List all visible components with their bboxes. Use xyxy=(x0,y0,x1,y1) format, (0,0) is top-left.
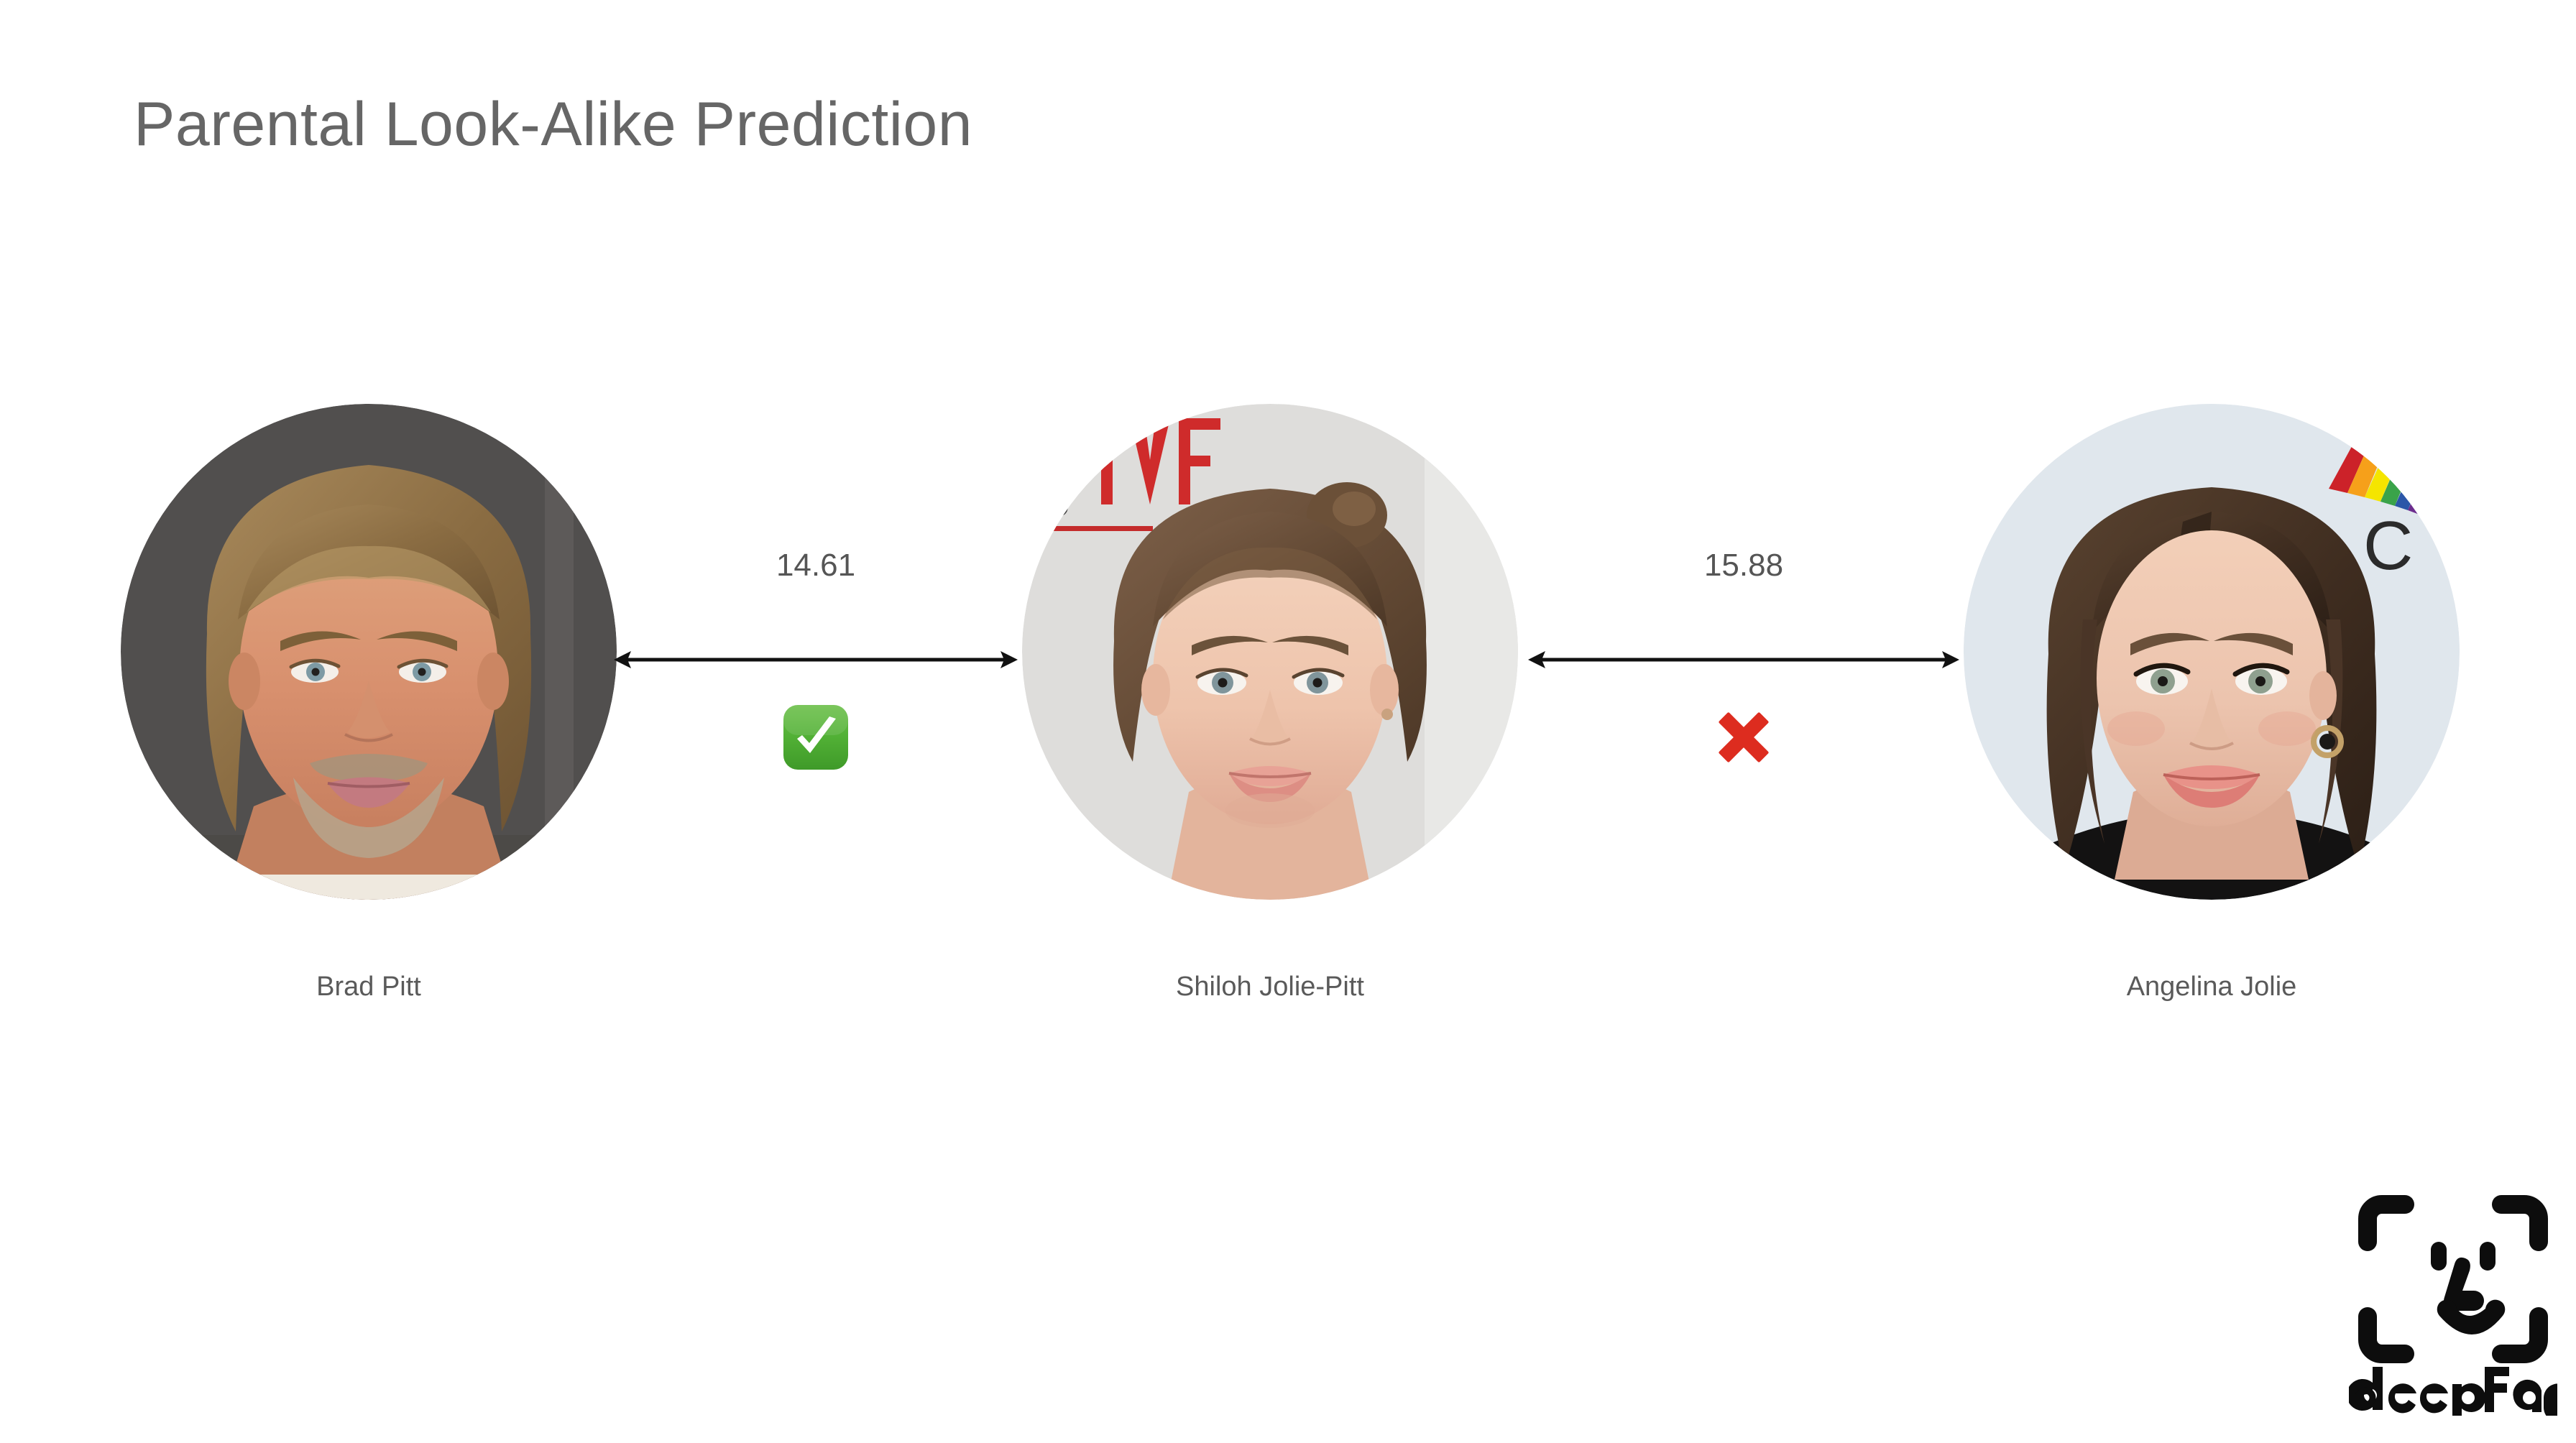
face-node-child-center: U xyxy=(1022,404,1518,900)
avatar-brad-pitt xyxy=(121,404,617,900)
page-title: Parental Look-Alike Prediction xyxy=(134,89,972,160)
distance-value: 14.61 xyxy=(776,548,855,584)
face-node-parent-right: C xyxy=(1964,404,2460,900)
avatar-angelina-jolie: C xyxy=(1964,404,2460,900)
svg-text:C: C xyxy=(2363,507,2413,584)
cross-mark-icon xyxy=(1709,703,1778,772)
comparison-shiloh-angelina: 15.88 xyxy=(1527,503,1961,805)
deepface-logo xyxy=(2349,1186,2557,1416)
check-mark-button-icon xyxy=(781,703,850,772)
distance-value: 15.88 xyxy=(1704,548,1783,584)
deepface-wordmark xyxy=(2349,1367,2557,1416)
avatar-shiloh-jolie-pitt: U xyxy=(1022,404,1518,900)
face-label-angelina-jolie: Angelina Jolie xyxy=(2127,972,2297,1002)
smiley-face xyxy=(2431,1242,2505,1334)
double-arrow-icon xyxy=(612,643,1019,676)
face-label-shiloh-jolie-pitt: Shiloh Jolie-Pitt xyxy=(1176,972,1364,1002)
face-node-parent-left: Brad Pitt xyxy=(121,404,617,900)
face-label-brad-pitt: Brad Pitt xyxy=(316,972,421,1002)
svg-text:U: U xyxy=(1042,479,1072,525)
double-arrow-icon xyxy=(1527,643,1961,676)
comparison-brad-shiloh: 14.61 xyxy=(612,503,1019,805)
